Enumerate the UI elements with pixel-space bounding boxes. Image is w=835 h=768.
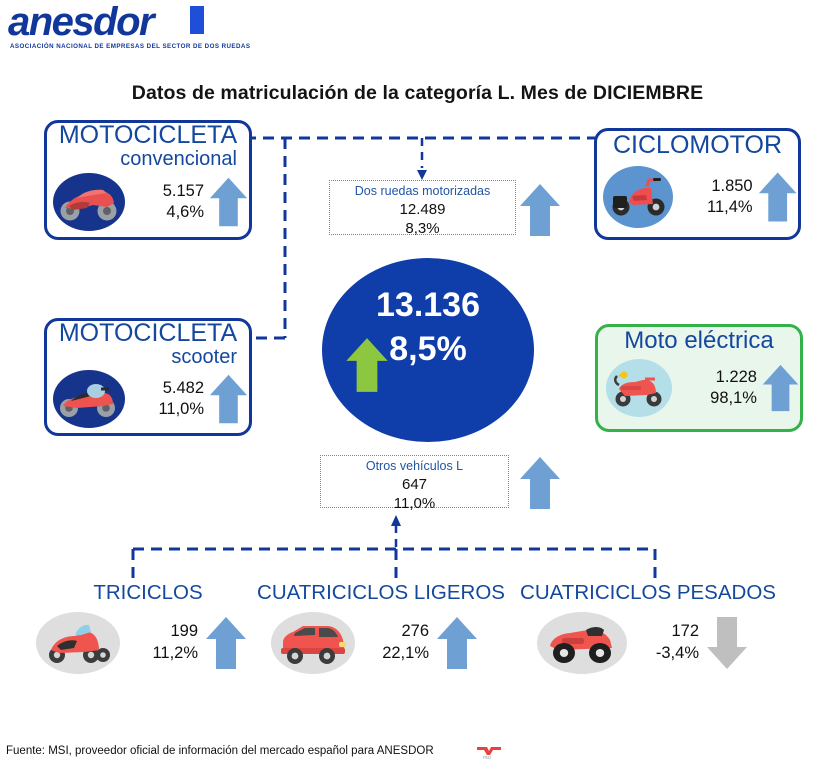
category-cuatriciclos-ligeros[interactable]: CUATRICICLOS LIGEROS 276 22,1%	[241, 583, 521, 674]
page-title: Datos de matriculación de la categoría L…	[0, 82, 835, 105]
scooter-icon	[53, 370, 125, 428]
quad-bike-icon-glyph	[542, 620, 622, 666]
stat-variation: 11,0%	[321, 494, 508, 514]
tricycle-icon	[36, 612, 120, 674]
card-title-main: MOTOCICLETA	[47, 321, 249, 346]
svg-text:msi: msi	[483, 755, 491, 761]
card-figures: 1.228 98,1%	[690, 367, 757, 409]
category-triciclos[interactable]: TRICICLOS 199 11,2%	[18, 583, 278, 674]
footer-source: Fuente: MSI, proveedor oficial de inform…	[6, 745, 434, 757]
stat-value: 647	[321, 475, 508, 495]
arrow-up-icon-dos-ruedas	[518, 182, 562, 238]
arrow-up-icon	[208, 371, 249, 427]
card-value: 5.482	[137, 378, 204, 399]
arrow-down-icon	[705, 615, 749, 671]
card-value: 5.157	[137, 181, 204, 202]
electric-scooter-icon-glyph	[609, 367, 669, 409]
total-circle[interactable]: 13.136 8,5%	[322, 258, 534, 442]
msi-logo: msi	[475, 743, 515, 761]
card-variation: 4,6%	[137, 202, 204, 223]
card-value: 1.850	[683, 176, 753, 197]
card-variation: 11,0%	[137, 399, 204, 420]
microcar-icon	[271, 612, 355, 674]
category-cuatriciclos-pesados[interactable]: CUATRICICLOS PESADOS 172 -3,4%	[503, 583, 793, 674]
motorcycle-icon-glyph	[57, 182, 121, 222]
card-variation: 11,4%	[683, 197, 753, 218]
category-variation: 22,1%	[371, 643, 429, 664]
category-value: 199	[140, 621, 198, 642]
category-figures: 276 22,1%	[371, 621, 429, 663]
microcar-icon-glyph	[275, 620, 351, 666]
arrow-up-icon	[435, 615, 479, 671]
card-moto-electrica[interactable]: Moto eléctrica 1.228 98,1%	[595, 324, 803, 432]
moped-icon	[603, 166, 673, 228]
card-title-sub: scooter	[47, 347, 249, 367]
arrow-up-icon	[761, 361, 800, 415]
quad-bike-icon	[537, 612, 627, 674]
card-title-main: Moto eléctrica	[598, 329, 800, 353]
category-figures: 172 -3,4%	[641, 621, 699, 663]
card-title-main: MOTOCICLETA	[47, 123, 249, 148]
card-value: 1.228	[690, 367, 757, 388]
stat-box-otros-vehiculos-l[interactable]: Otros vehículos L 647 11,0%	[320, 455, 509, 508]
stat-label: Otros vehículos L	[321, 459, 508, 475]
category-value: 172	[641, 621, 699, 642]
category-label: CUATRICICLOS PESADOS	[503, 583, 793, 604]
total-value: 13.136	[322, 286, 534, 325]
card-figures: 5.157 4,6%	[137, 181, 204, 223]
category-label: TRICICLOS	[18, 583, 278, 604]
logo-wordmark: anesdor	[4, 2, 304, 42]
card-figures: 5.482 11,0%	[137, 378, 204, 420]
arrow-up-icon	[208, 174, 249, 230]
tricycle-icon-glyph	[41, 620, 115, 666]
category-variation: 11,2%	[140, 643, 198, 664]
card-title-sub: convencional	[47, 149, 249, 169]
anesdor-logo: anesdor ASOCIACIÓN NACIONAL DE EMPRESAS …	[4, 2, 304, 52]
arrow-up-icon	[757, 169, 798, 225]
arrow-up-icon-otros	[518, 455, 562, 511]
scooter-icon-glyph	[57, 379, 121, 419]
category-value: 276	[371, 621, 429, 642]
card-figures: 1.850 11,4%	[683, 176, 753, 218]
moped-icon-glyph	[607, 176, 669, 218]
electric-scooter-icon	[606, 359, 672, 417]
logo-tagline: ASOCIACIÓN NACIONAL DE EMPRESAS DEL SECT…	[4, 43, 304, 50]
stat-box-dos-ruedas-motorizadas[interactable]: Dos ruedas motorizadas 12.489 8,3%	[329, 180, 516, 235]
stat-value: 12.489	[330, 200, 515, 220]
card-ciclomotor[interactable]: CICLOMOTOR 1.850 11,4%	[594, 128, 801, 240]
card-variation: 98,1%	[690, 388, 757, 409]
arrow-up-icon-total	[344, 336, 390, 394]
card-motocicleta-scooter[interactable]: MOTOCICLETA scooter 5.482 11,0%	[44, 318, 252, 436]
stat-variation: 8,3%	[330, 219, 515, 239]
stat-label: Dos ruedas motorizadas	[330, 184, 515, 200]
category-label: CUATRICICLOS LIGEROS	[241, 583, 521, 604]
category-variation: -3,4%	[641, 643, 699, 664]
logo-accent-bar	[190, 6, 204, 34]
card-motocicleta-convencional[interactable]: MOTOCICLETA convencional 5.157 4,6%	[44, 120, 252, 240]
motorcycle-icon	[53, 173, 125, 231]
card-title-main: CICLOMOTOR	[597, 133, 798, 158]
category-figures: 199 11,2%	[140, 621, 198, 663]
